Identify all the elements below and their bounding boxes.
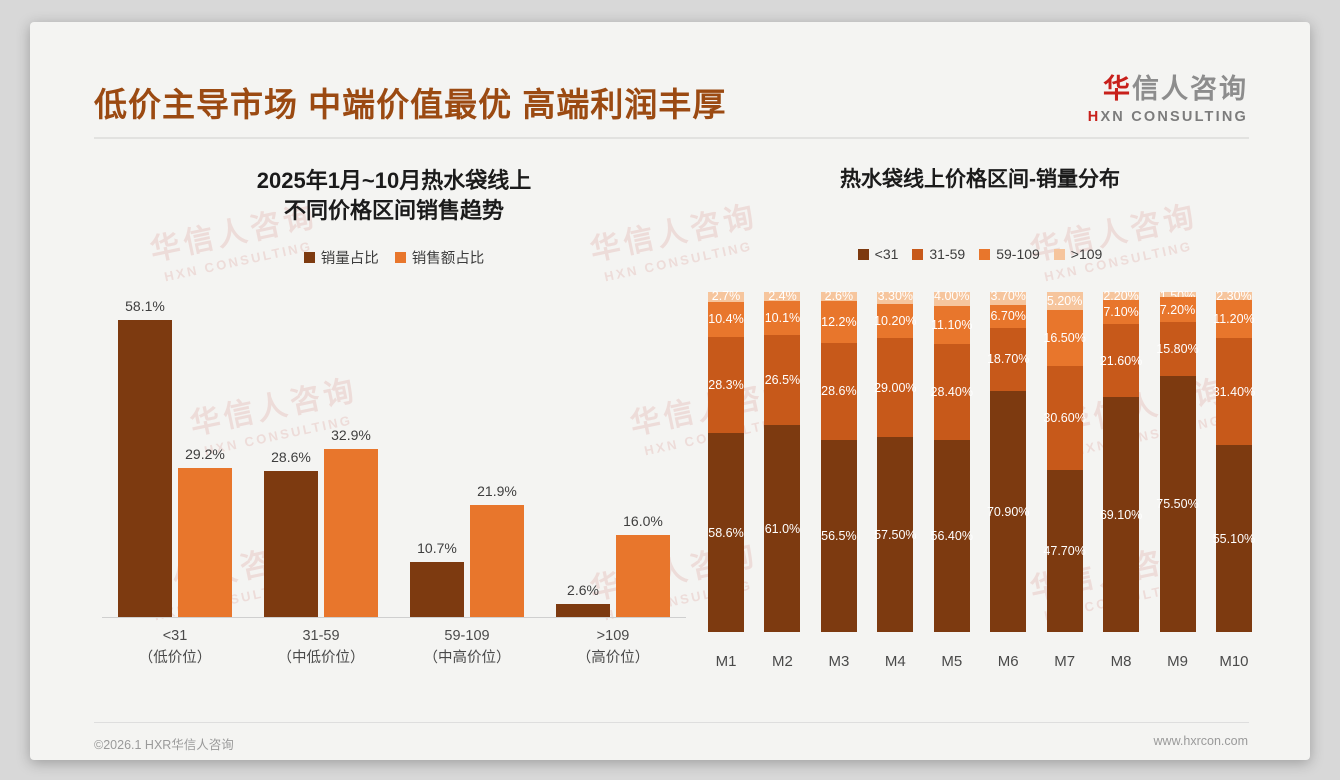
bar-group: 28.6%32.9% (248, 286, 394, 617)
category-label-sub: （低价位） (102, 648, 248, 670)
legend-swatch-icon (1054, 249, 1065, 260)
left-chart-legend: 销量占比销售额占比 (94, 247, 694, 268)
stack-segment-label: 4.00% (934, 289, 969, 303)
stack-segment[interactable]: 58.6% (708, 433, 744, 632)
bar[interactable] (324, 449, 378, 617)
page-title: 低价主导市场 中端价值最优 高端利润丰厚 (94, 78, 726, 126)
stack-segment[interactable]: 56.40% (934, 440, 970, 632)
stack-segment[interactable]: 31.40% (1216, 338, 1252, 445)
stack-segment[interactable]: 6.70% (990, 305, 1026, 328)
stack-segment[interactable]: 16.50% (1047, 310, 1083, 366)
month-label: M6 (990, 653, 1026, 670)
bar-group: 58.1%29.2% (102, 286, 248, 617)
slide-card: 低价主导市场 中端价值最优 高端利润丰厚 华信人咨询 HXN CONSULTIN… (30, 22, 1310, 760)
logo-english-accent: H (1088, 109, 1101, 125)
category-label: 59-109（中高价位） (394, 620, 540, 672)
stack-segment-label: 57.50% (874, 528, 916, 542)
right-chart-plot: 2.7%10.4%28.3%58.6%2.4%10.1%26.5%61.0%2.… (702, 274, 1258, 674)
stack-segment-label: 3.30% (878, 289, 913, 303)
stack-segment[interactable]: 69.10% (1103, 397, 1139, 632)
stack-segment-label: 61.0% (765, 522, 800, 536)
footer-copyright: ©2026.1 HXR华信人咨询 (94, 734, 234, 753)
category-label-main: 31-59 (248, 626, 394, 648)
slide-header: 低价主导市场 中端价值最优 高端利润丰厚 华信人咨询 HXN CONSULTIN… (30, 22, 1310, 140)
stack-segment[interactable]: 7.20% (1160, 297, 1196, 321)
footer-website: www.hxrcon.com (1154, 734, 1248, 748)
bar-column[interactable]: 10.7% (410, 286, 464, 617)
bar-column[interactable]: 21.9% (470, 286, 524, 617)
month-label: M1 (708, 653, 744, 670)
logo-english: HXN CONSULTING (1088, 110, 1248, 125)
month-label: M5 (934, 653, 970, 670)
stack-segment-label: 10.20% (874, 314, 916, 328)
stack-segment[interactable]: 28.3% (708, 337, 744, 433)
stacked-bar-column[interactable]: 3.70%6.70%18.70%70.90% (990, 292, 1026, 632)
left-chart-category-labels: <31（低价位）31-59（中低价位）59-109（中高价位）>109（高价位） (102, 620, 686, 672)
footer-divider (94, 722, 1249, 723)
stack-segment[interactable]: 61.0% (764, 425, 800, 632)
stacked-bar-column[interactable]: 2.20%7.10%21.60%69.10% (1103, 292, 1139, 632)
legend-label: 销量占比 (321, 247, 379, 268)
stack-segment[interactable]: 2.4% (764, 292, 800, 300)
stack-segment[interactable]: 18.70% (990, 328, 1026, 392)
stack-segment[interactable]: 3.30% (877, 292, 913, 303)
month-label: M9 (1160, 653, 1196, 670)
bar-group: 2.6%16.0% (540, 286, 686, 617)
logo-chinese: 华信人咨询 (1088, 76, 1248, 103)
bar[interactable] (118, 320, 172, 617)
stack-segment-label: 56.5% (821, 529, 856, 543)
stack-segment[interactable]: 2.30% (1216, 292, 1252, 300)
month-label: M3 (821, 653, 857, 670)
stack-segment-label: 7.20% (1160, 303, 1195, 317)
stack-segment[interactable]: 75.50% (1160, 376, 1196, 633)
stack-segment[interactable]: 5.20% (1047, 292, 1083, 310)
stack-segment-label: 10.1% (765, 311, 800, 325)
stack-segment-label: 16.50% (1043, 331, 1085, 345)
right-legend-item-2[interactable]: 59-109 (979, 246, 1040, 262)
stack-segment[interactable]: 4.00% (934, 292, 970, 306)
bar-column[interactable]: 58.1% (118, 286, 172, 617)
stack-segment[interactable]: 12.2% (821, 301, 857, 342)
bar-group: 10.7%21.9% (394, 286, 540, 617)
category-label: 31-59（中低价位） (248, 620, 394, 672)
legend-swatch-icon (304, 252, 315, 263)
month-label: M8 (1103, 653, 1139, 670)
bar-value-label: 2.6% (567, 582, 599, 598)
stacked-bar-column[interactable]: 1.50%7.20%15.80%75.50% (1160, 292, 1196, 632)
stack-segment-label: 3.70% (990, 289, 1025, 303)
bar-value-label: 21.9% (477, 483, 517, 499)
stacked-bar-column[interactable]: 4.00%11.10%28.40%56.40% (934, 292, 970, 632)
stack-segment-label: 12.2% (821, 315, 856, 329)
stack-segment[interactable]: 7.10% (1103, 300, 1139, 324)
legend-swatch-icon (395, 252, 406, 263)
stack-segment[interactable]: 26.5% (764, 335, 800, 425)
month-label: M7 (1047, 653, 1083, 670)
bar-value-label: 28.6% (271, 449, 311, 465)
stacked-bar-column[interactable]: 2.6%12.2%28.6%56.5% (821, 292, 857, 632)
stack-segment-label: 30.60% (1043, 411, 1085, 425)
bar-value-label: 10.7% (417, 540, 457, 556)
stack-segment-label: 26.5% (765, 373, 800, 387)
category-label-sub: （中高价位） (394, 648, 540, 670)
stacked-bar-column[interactable]: 2.30%11.20%31.40%55.10% (1216, 292, 1252, 632)
legend-label: 59-109 (996, 246, 1040, 262)
left-chart-panel: 2025年1月~10月热水袋线上 不同价格区间销售趋势 销量占比销售额占比 58… (94, 158, 694, 710)
stack-segment[interactable]: 2.20% (1103, 292, 1139, 299)
right-chart-legend: <3131-5959-109>109 (702, 246, 1258, 262)
stack-segment-label: 31.40% (1213, 385, 1255, 399)
stack-segment-label: 28.40% (931, 385, 973, 399)
stack-segment[interactable]: 56.5% (821, 440, 857, 632)
stack-segment[interactable]: 11.10% (934, 306, 970, 344)
stacked-bar-column[interactable]: 2.7%10.4%28.3%58.6% (708, 292, 744, 632)
legend-label: <31 (875, 246, 899, 262)
bar[interactable] (556, 604, 610, 617)
bar-value-label: 29.2% (185, 446, 225, 462)
right-legend-item-3[interactable]: >109 (1054, 246, 1103, 262)
category-label-main: 59-109 (394, 626, 540, 648)
stack-segment[interactable]: 11.20% (1216, 300, 1252, 338)
stack-segment[interactable]: 28.40% (934, 344, 970, 441)
stack-segment-label: 11.10% (931, 318, 972, 332)
right-legend-item-0[interactable]: <31 (858, 246, 899, 262)
stack-segment-label: 10.4% (708, 312, 743, 326)
logo-chinese-rest: 信人咨询 (1132, 74, 1248, 104)
month-label: M4 (877, 653, 913, 670)
stack-segment[interactable]: 15.80% (1160, 322, 1196, 376)
stack-segment-label: 15.80% (1156, 342, 1198, 356)
stack-segment-label: 28.3% (708, 378, 743, 392)
bar-value-label: 16.0% (623, 513, 663, 529)
stack-segment[interactable]: 30.60% (1047, 366, 1083, 470)
stack-segment-label: 29.00% (874, 381, 916, 395)
stack-segment[interactable]: 29.00% (877, 338, 913, 437)
stack-segment-label: 6.70% (990, 309, 1025, 323)
stack-segment-label: 21.60% (1100, 354, 1142, 368)
legend-swatch-icon (979, 249, 990, 260)
stack-segment[interactable]: 10.20% (877, 304, 913, 339)
company-logo: 华信人咨询 HXN CONSULTING (1088, 76, 1248, 125)
header-divider (94, 137, 1249, 139)
category-label-main: >109 (540, 626, 686, 648)
left-chart-title-line2: 不同价格区间销售趋势 (284, 198, 504, 223)
category-label-main: <31 (102, 626, 248, 648)
stack-segment[interactable]: 10.4% (708, 302, 744, 337)
stack-segment[interactable]: 21.60% (1103, 324, 1139, 397)
right-chart-stacks: 2.7%10.4%28.3%58.6%2.4%10.1%26.5%61.0%2.… (708, 292, 1252, 632)
left-chart-title: 2025年1月~10月热水袋线上 不同价格区间销售趋势 (94, 158, 694, 225)
month-label: M2 (764, 653, 800, 670)
right-chart-title: 热水袋线上价格区间-销量分布 (702, 158, 1258, 194)
stack-segment-label: 75.50% (1156, 497, 1198, 511)
stack-segment-label: 58.6% (708, 526, 743, 540)
bar-column[interactable]: 28.6% (264, 286, 318, 617)
category-label-sub: （高价位） (540, 648, 686, 670)
bar-column[interactable]: 16.0% (616, 286, 670, 617)
stack-segment-label: 18.70% (987, 352, 1029, 366)
month-label: M10 (1216, 653, 1252, 670)
bar[interactable] (410, 562, 464, 617)
left-legend-item-0[interactable]: 销量占比 (304, 247, 379, 268)
stack-segment[interactable]: 70.90% (990, 391, 1026, 632)
stack-segment[interactable]: 10.1% (764, 301, 800, 335)
bar-column[interactable]: 29.2% (178, 286, 232, 617)
slide-canvas: 低价主导市场 中端价值最优 高端利润丰厚 华信人咨询 HXN CONSULTIN… (0, 0, 1340, 780)
legend-swatch-icon (912, 249, 923, 260)
bar[interactable] (178, 468, 232, 617)
stack-segment[interactable]: 55.10% (1216, 445, 1252, 632)
bar-value-label: 32.9% (331, 427, 371, 443)
bar[interactable] (470, 505, 524, 617)
legend-swatch-icon (858, 249, 869, 260)
stacked-bar-column[interactable]: 5.20%16.50%30.60%47.70% (1047, 292, 1083, 632)
logo-english-rest: XN CONSULTING (1100, 109, 1248, 125)
stacked-bar-column[interactable]: 2.4%10.1%26.5%61.0% (764, 292, 800, 632)
legend-label: 销售额占比 (412, 247, 485, 268)
bar[interactable] (264, 471, 318, 617)
bar-value-label: 58.1% (125, 298, 165, 314)
left-chart-axis (102, 617, 686, 618)
stack-segment[interactable]: 28.6% (821, 343, 857, 440)
legend-label: 31-59 (929, 246, 965, 262)
stack-segment-label: 5.20% (1047, 294, 1082, 308)
stack-segment-label: 47.70% (1043, 544, 1085, 558)
stack-segment[interactable]: 57.50% (877, 437, 913, 633)
stack-segment[interactable]: 2.7% (708, 292, 744, 301)
left-legend-item-1[interactable]: 销售额占比 (395, 247, 485, 268)
bar-column[interactable]: 32.9% (324, 286, 378, 617)
category-label: <31（低价位） (102, 620, 248, 672)
stack-segment-label: 56.40% (931, 529, 973, 543)
right-chart-panel: 热水袋线上价格区间-销量分布 <3131-5959-109>109 2.7%10… (702, 158, 1258, 710)
stack-segment[interactable]: 2.6% (821, 292, 857, 301)
category-label: >109（高价位） (540, 620, 686, 672)
bar-column[interactable]: 2.6% (556, 286, 610, 617)
left-chart-plot: 58.1%29.2%28.6%32.9%10.7%21.9%2.6%16.0% … (94, 286, 694, 672)
legend-label: >109 (1071, 246, 1103, 262)
stack-segment-label: 69.10% (1100, 508, 1142, 522)
stack-segment-label: 70.90% (987, 505, 1029, 519)
category-label-sub: （中低价位） (248, 648, 394, 670)
stacked-bar-column[interactable]: 3.30%10.20%29.00%57.50% (877, 292, 913, 632)
stack-segment-label: 55.10% (1213, 532, 1255, 546)
stack-segment-label: 11.20% (1213, 312, 1254, 326)
stack-segment-label: 28.6% (821, 384, 856, 398)
stack-segment[interactable]: 3.70% (990, 292, 1026, 305)
bar[interactable] (616, 535, 670, 617)
right-chart-month-labels: M1M2M3M4M5M6M7M8M9M10 (708, 653, 1252, 670)
stack-segment-label: 7.10% (1103, 305, 1138, 319)
left-chart-bar-groups: 58.1%29.2%28.6%32.9%10.7%21.9%2.6%16.0% (102, 286, 686, 617)
logo-chinese-accent: 华 (1103, 74, 1132, 104)
stack-segment[interactable]: 47.70% (1047, 470, 1083, 632)
right-legend-item-1[interactable]: 31-59 (912, 246, 965, 262)
left-chart-title-line1: 2025年1月~10月热水袋线上 (257, 168, 532, 193)
